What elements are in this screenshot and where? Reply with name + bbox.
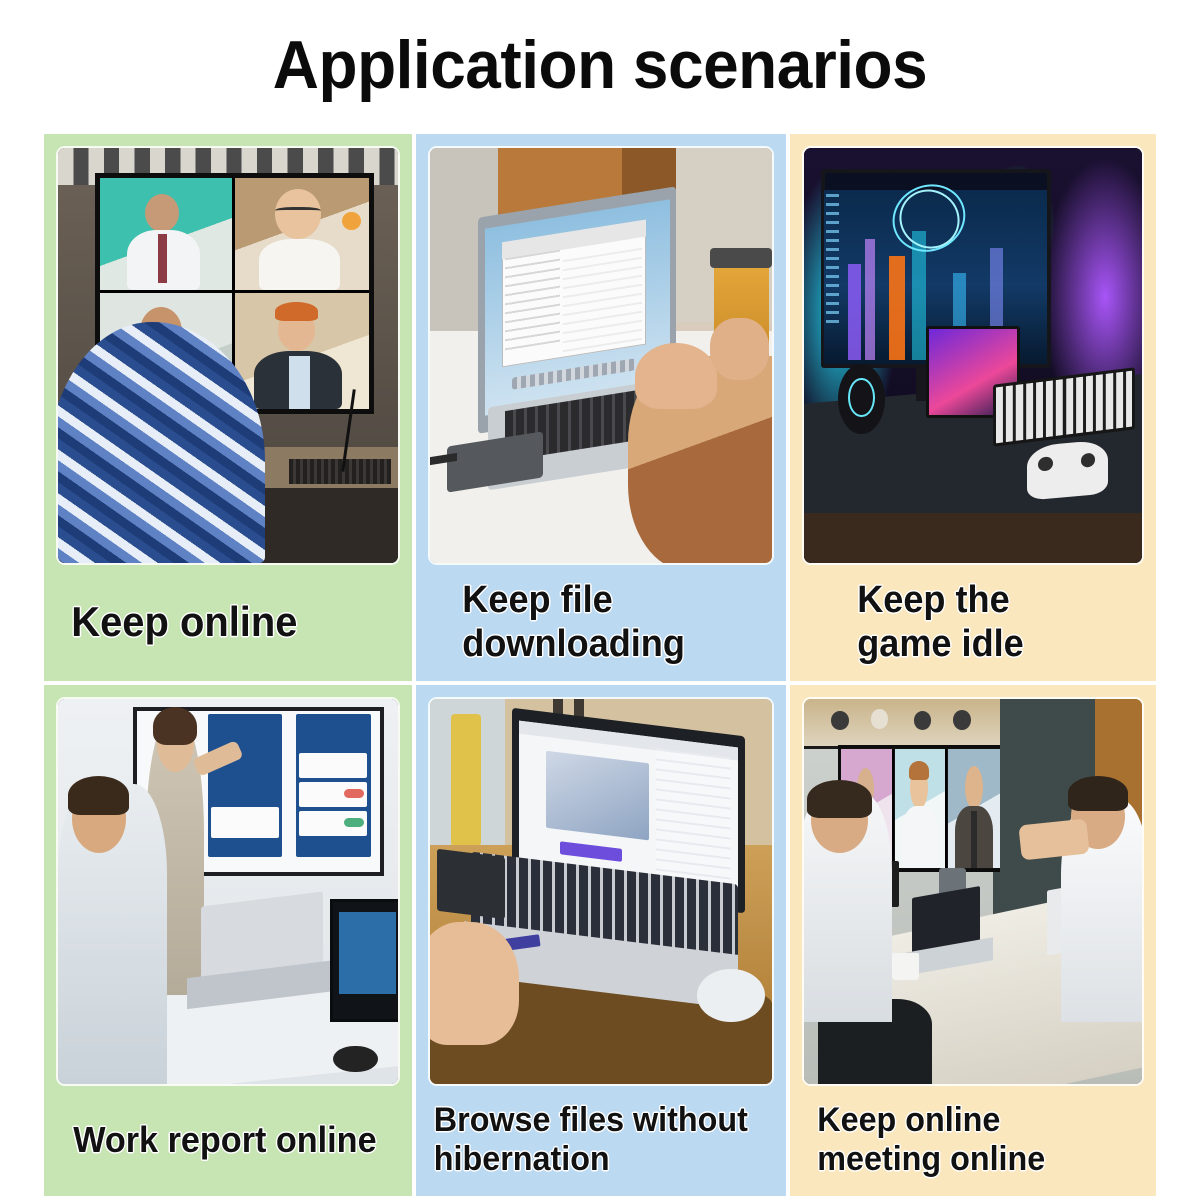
caption-line: Keep online [71,598,381,647]
scenarios-grid: Keep online Keep fil [44,134,1156,1200]
scenario-caption-browse-files-without-hibernation: Browse files without hibernation [430,1084,755,1196]
scenario-card-keep-file-downloading[interactable]: Keep file downloading [416,134,786,681]
photo-conference-room-video-call [804,699,1142,1084]
photo-gaming-desk [804,148,1142,563]
caption-line: Work report online [73,1119,381,1161]
scenario-card-browse-files-without-hibernation[interactable]: Browse files without hibernation [416,685,786,1196]
caption-line: hibernation [434,1140,755,1179]
caption-line: game idle [857,622,1125,666]
photo-office-presentation [58,699,398,1084]
caption-line: Keep the [857,578,1125,622]
scenario-caption-keep-online: Keep online [58,563,381,681]
photo-laptop-usb-hub [430,148,772,563]
page-title: Application scenarios [36,26,1164,104]
scenario-caption-keep-file-downloading: Keep file downloading [430,563,755,681]
photo-laptop-round-table [430,699,772,1084]
caption-line: meeting online [817,1140,1125,1179]
scenario-caption-keep-the-game-idle: Keep the game idle [804,563,1125,681]
photo-video-conference [58,148,398,563]
caption-line: Keep file [462,578,755,622]
caption-line: Browse files without [434,1101,755,1140]
scenario-caption-keep-online-meeting-online: Keep online meeting online [804,1084,1125,1196]
application-scenarios-page: Application scenarios [0,0,1200,1200]
scenario-card-keep-online[interactable]: Keep online [44,134,412,681]
scenario-card-work-report-online[interactable]: Work report online [44,685,412,1196]
scenario-card-keep-online-meeting-online[interactable]: Keep online meeting online [790,685,1156,1196]
scenario-caption-work-report-online: Work report online [58,1084,381,1196]
scenario-card-keep-the-game-idle[interactable]: Keep the game idle [790,134,1156,681]
caption-line: downloading [462,622,755,666]
caption-line: Keep online [817,1101,1125,1140]
